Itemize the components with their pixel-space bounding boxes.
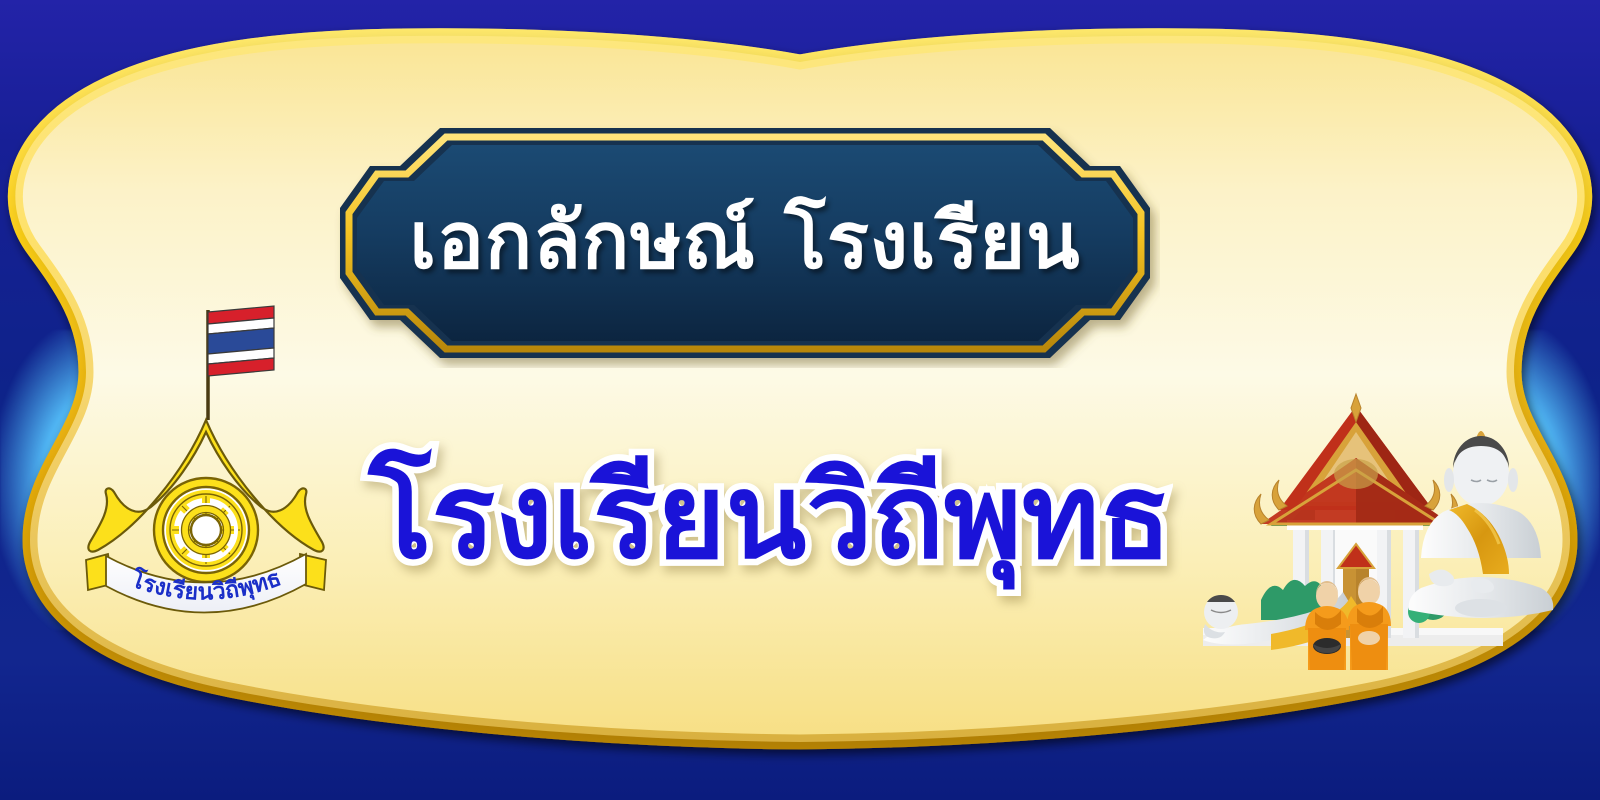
- seated-buddha-icon: [1409, 431, 1554, 618]
- banner-canvas: เอกลักษณ์ โรงเรียน โรงเรียนวิถีพุทธ: [0, 0, 1600, 800]
- plaque-title-text: เอกลักษณ์ โรงเรียน: [330, 202, 1160, 280]
- school-logo: โรงเรียนวิถีพุทธ: [78, 292, 334, 652]
- main-headline: โรงเรียนวิถีพุทธ: [300, 455, 1240, 579]
- temple-illustration: [1175, 388, 1595, 673]
- identity-plaque: เอกลักษณ์ โรงเรียน: [330, 118, 1160, 368]
- thai-flag-icon: [208, 306, 274, 376]
- dharmachakra-wheel-icon: [154, 478, 258, 582]
